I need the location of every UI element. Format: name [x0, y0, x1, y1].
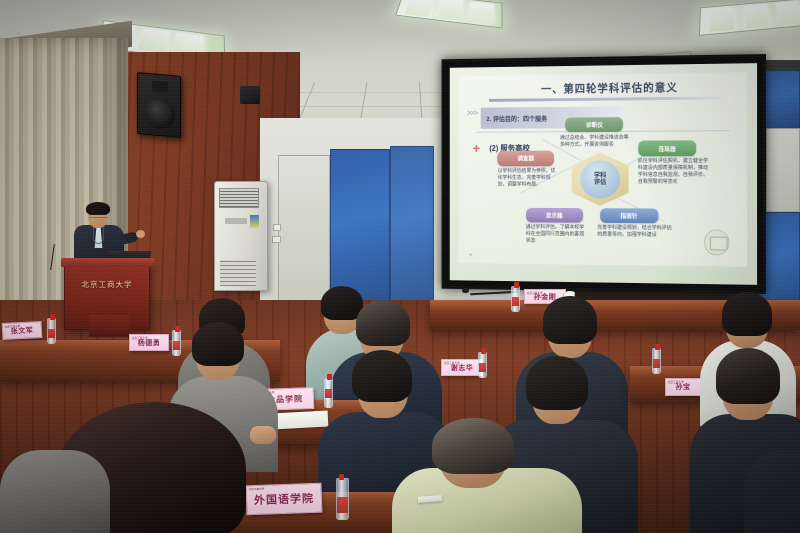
- pill-label: 显示器: [546, 211, 563, 220]
- slide-node-pill-display: 显示器: [526, 207, 583, 223]
- fluorescent-light-panel: [699, 0, 800, 36]
- audience-person-foreground: [392, 424, 582, 533]
- name-card-logo: 北京工商大学: [132, 336, 148, 340]
- name-card-left-edge: 北京工商大学 张文军: [2, 321, 43, 340]
- person-hair: [432, 418, 514, 474]
- lectern-top: [61, 258, 155, 267]
- presentation-slide: 一、第四轮学科评估的意义 >>> 2. 评估目的：四个服务 + (2) 服务高校…: [459, 72, 748, 267]
- bottle-label: [479, 363, 486, 372]
- pill-label: 指南针: [620, 211, 637, 220]
- pill-label: 诊断仪: [586, 120, 603, 129]
- slide-center-label: 学科 评估: [580, 160, 620, 198]
- water-bottle: [478, 352, 487, 378]
- name-card-text: 外国语学院: [254, 490, 315, 508]
- wall-speaker-secondary-icon: [240, 86, 260, 104]
- wall-panel-white: [766, 128, 800, 212]
- slide-title: 一、第四轮学科评估的意义: [498, 78, 724, 96]
- lectern: 北京工商大学: [64, 262, 150, 330]
- plus-bullet-icon: +: [472, 142, 479, 155]
- wall-panel-white: [278, 155, 330, 305]
- water-bottle: [336, 478, 349, 520]
- pill-label: 连珠器: [658, 144, 675, 153]
- glasses-icon: [89, 214, 107, 218]
- slide-node-text-display: 通过学科评估，了解本校学科在全国同行范围内的客观状态: [526, 224, 589, 245]
- wall-socket[interactable]: [272, 236, 281, 243]
- water-bottle: [652, 348, 661, 374]
- fluorescent-light-panel: [395, 0, 502, 29]
- ac-energy-label: [250, 215, 259, 228]
- wall-switch[interactable]: [273, 224, 281, 231]
- ac-top-vent: [219, 188, 259, 208]
- name-card-yang: 北京工商大学 杨德勇: [129, 334, 169, 351]
- person-hair: [352, 350, 412, 402]
- presenter-hand: [136, 230, 145, 238]
- person-shoulders: [0, 450, 110, 533]
- slide-node-pill-guide: 指南针: [600, 208, 658, 224]
- title-underline: [489, 97, 720, 102]
- wall-panel-blue: [330, 149, 390, 305]
- slide-node-pill-promoter: 连珠器: [638, 141, 697, 157]
- bottle-label: [653, 359, 660, 368]
- speaker-tweeter: [152, 80, 168, 92]
- name-card-logo: 北京工商大学: [668, 380, 684, 384]
- person-hair: [716, 348, 780, 404]
- slide-node-text-guide: 完善学科建设规划，结合学科评估的质量导向，加强学科建设: [597, 225, 673, 239]
- slide-node-text-reference: 以学科评估结果为参照，优化学科生态，完善学科规划，调整学科布局。: [498, 168, 560, 188]
- arrow-marks: >>>: [467, 109, 477, 118]
- water-bottle: [47, 318, 56, 344]
- person-hair: [192, 322, 244, 366]
- name-card-logo: 北京工商大学: [249, 487, 265, 492]
- wall-panel-blue: [390, 146, 434, 306]
- name-card-logo: 北京工商大学: [5, 324, 21, 329]
- slide-node-pill-reference: 调查器: [498, 151, 555, 166]
- audience-person-foreground: [744, 440, 800, 533]
- ac-brand-badge: [225, 218, 247, 224]
- slide-node-text-diagnostic: 通过总结会、学科建设推进会等多种方式，开展咨询服务: [560, 135, 629, 149]
- air-conditioner-unit: [214, 181, 268, 291]
- wall-speaker-icon: [137, 72, 181, 138]
- person-hair: [356, 300, 410, 346]
- speaker-cone: [145, 98, 175, 131]
- slide-section-label: 2. 评估目的：四个服务: [481, 113, 547, 123]
- conference-room-photo: 一、第四轮学科评估的意义 >>> 2. 评估目的：四个服务 + (2) 服务高校…: [0, 0, 800, 533]
- slide-corner-dot: [470, 254, 472, 256]
- audience-person-foreground: [0, 430, 110, 533]
- center-label-line2: 评估: [594, 179, 606, 186]
- presenter-lanyard: [93, 227, 104, 244]
- ac-bottom-vent: [220, 260, 256, 286]
- name-card-logo: 北京工商大学: [527, 291, 543, 295]
- lectern-base: [89, 315, 129, 337]
- slide-node-pill-diagnostic: 诊断仪: [566, 117, 624, 133]
- desk-microphone-head: [462, 288, 469, 293]
- pill-label: 调查器: [517, 154, 534, 163]
- person-hair: [526, 356, 588, 410]
- projection-screen: 一、第四轮学科评估的意义 >>> 2. 评估目的：四个服务 + (2) 服务高校…: [442, 54, 766, 294]
- name-card-foreign-languages: 北京工商大学 外国语学院: [245, 483, 322, 516]
- bottle-label: [337, 497, 348, 513]
- person-hair: [543, 296, 597, 344]
- screen-surface: 一、第四轮学科评估的意义 >>> 2. 评估目的：四个服务 + (2) 服务高校…: [450, 63, 757, 285]
- bottle-label: [48, 329, 55, 338]
- person-hair: [722, 292, 772, 336]
- person-hand: [250, 426, 276, 444]
- slide-node-text-promoter: 抓住学科评估契机，建立健全学科建设内部质量保障机制，推动学科信息自我监测、自我评…: [638, 158, 709, 186]
- university-logo-watermark: [704, 229, 729, 255]
- lectern-sign: 北京工商大学: [65, 279, 149, 290]
- person-shoulders: [744, 450, 800, 533]
